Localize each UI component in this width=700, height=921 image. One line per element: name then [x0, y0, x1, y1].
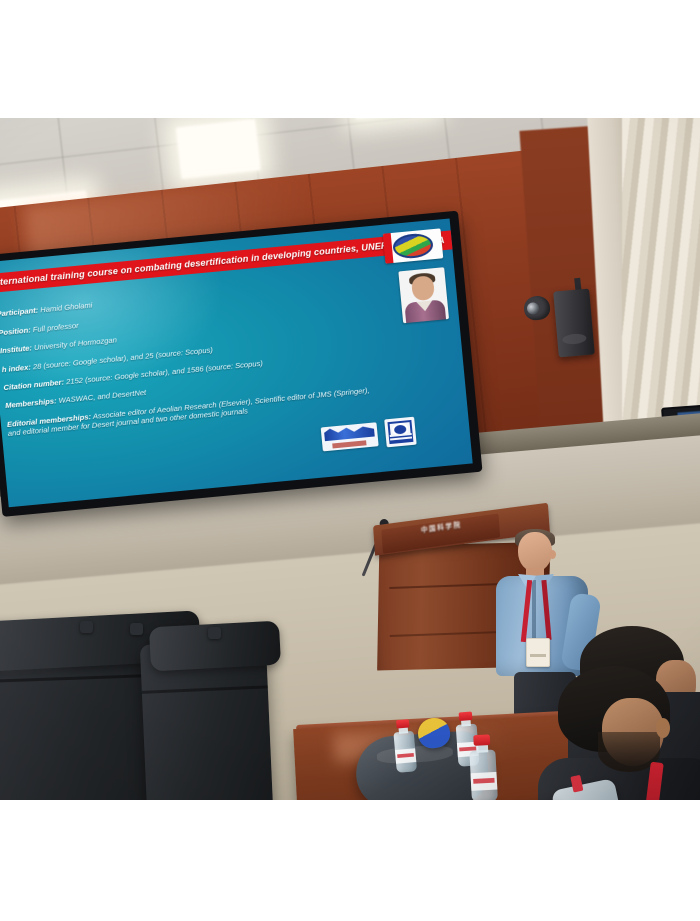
presenter-name-badge	[526, 638, 550, 667]
chair-knob	[208, 627, 221, 639]
attendee-ear	[656, 718, 670, 738]
chair-knob	[130, 623, 143, 635]
ceiling-light-panel	[176, 119, 261, 180]
bottle-cap	[396, 719, 410, 728]
chair-knob	[80, 621, 93, 633]
bottle-cap	[473, 734, 490, 745]
logo-subtitle-bar	[332, 440, 366, 448]
bottle-body	[393, 731, 417, 773]
logo-red-bar	[383, 233, 394, 264]
bottle-label	[470, 772, 497, 791]
water-bottle	[469, 735, 498, 800]
logo-oval-shape	[392, 232, 434, 260]
portrait-head	[411, 275, 435, 301]
display-bezel: International training course on combati…	[0, 211, 483, 517]
bottle-label	[395, 748, 416, 764]
slide-label-participant: Participant:	[0, 306, 39, 319]
slide-label-hindex: h index:	[1, 362, 31, 374]
presenter-head	[518, 532, 552, 572]
presentation-display: International training course on combati…	[0, 211, 483, 517]
unep-cas-oval-logo	[383, 228, 444, 263]
chair-seam	[142, 685, 268, 693]
logo-script-mark	[324, 425, 375, 442]
bottle-cap	[459, 712, 473, 721]
conference-photograph: International training course on combati…	[0, 118, 700, 800]
slide-label-memberships: Memberships:	[5, 396, 57, 410]
slide-label-institute: Institute:	[0, 343, 32, 355]
wall-speaker	[553, 289, 595, 358]
participant-portrait	[398, 267, 449, 323]
slide-value-memberships: WASWAC, and DesertNet	[58, 388, 146, 405]
presenter-ear	[549, 550, 556, 559]
slide-label-citations: Citation number:	[3, 377, 64, 392]
slide-screen: International training course on combati…	[0, 218, 473, 507]
slide-label-position: Position:	[0, 325, 31, 337]
slide-value-institute: University of Hormozgan	[34, 335, 118, 352]
photo-frame: International training course on combati…	[0, 0, 700, 921]
attendee-foreground-right	[528, 666, 700, 800]
slide-value-position: Full professor	[32, 320, 79, 333]
slide-value-editorial: Associate editor of Aeolian Research (El…	[7, 385, 369, 437]
chinese-academy-logo	[321, 422, 379, 451]
idra-water-logo	[384, 417, 417, 448]
bottle-body	[469, 749, 498, 800]
